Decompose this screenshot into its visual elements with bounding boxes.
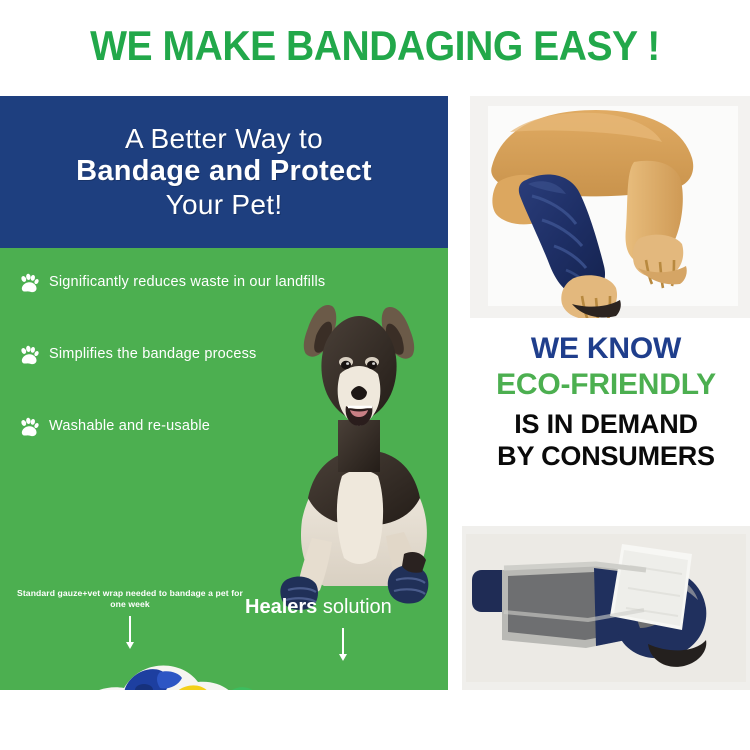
eco-demand-heading-group: WE KNOW ECO-FRIENDLY IS IN DEMAND BY CON… — [462, 332, 750, 472]
blue-panel-line-1: A Better Way to — [125, 123, 323, 155]
paw-print-icon — [18, 272, 40, 294]
paw-print-icon — [18, 344, 40, 366]
heading-by-consumers: BY CONSUMERS — [462, 441, 750, 472]
benefit-label: Simplifies the bandage process — [49, 346, 257, 362]
dog-with-booties-photo — [272, 270, 446, 610]
blue-header-panel: A Better Way to Bandage and Protect Your… — [0, 96, 448, 248]
blue-panel-line-2: Bandage and Protect — [76, 155, 372, 189]
heading-eco-friendly: ECO-FRIENDLY — [462, 368, 750, 402]
heading-we-know: WE KNOW — [462, 332, 750, 366]
waste-comparison-photo — [36, 638, 396, 690]
benefit-label: Washable and re-usable — [49, 418, 210, 434]
green-benefits-panel: Significantly reduces waste in our landf… — [0, 248, 448, 690]
healers-suffix-label: solution — [317, 596, 392, 618]
paw-print-icon — [18, 416, 40, 438]
page-headline: WE MAKE BANDAGING EASY ! — [26, 22, 724, 70]
standard-waste-caption: Standard gauze+vet wrap needed to bandag… — [14, 588, 246, 610]
healers-wrap-product-photo — [462, 526, 750, 690]
right-column: WE KNOW ECO-FRIENDLY IS IN DEMAND BY CON… — [462, 96, 750, 690]
blue-panel-line-3: Your Pet! — [166, 189, 283, 221]
left-column: A Better Way to Bandage and Protect Your… — [0, 96, 448, 690]
healers-solution-caption: Healers solution — [245, 596, 392, 619]
bandaged-leg-photo — [470, 96, 750, 318]
heading-is-in-demand: IS IN DEMAND — [462, 409, 750, 440]
healers-brand-label: Healers — [245, 596, 317, 618]
